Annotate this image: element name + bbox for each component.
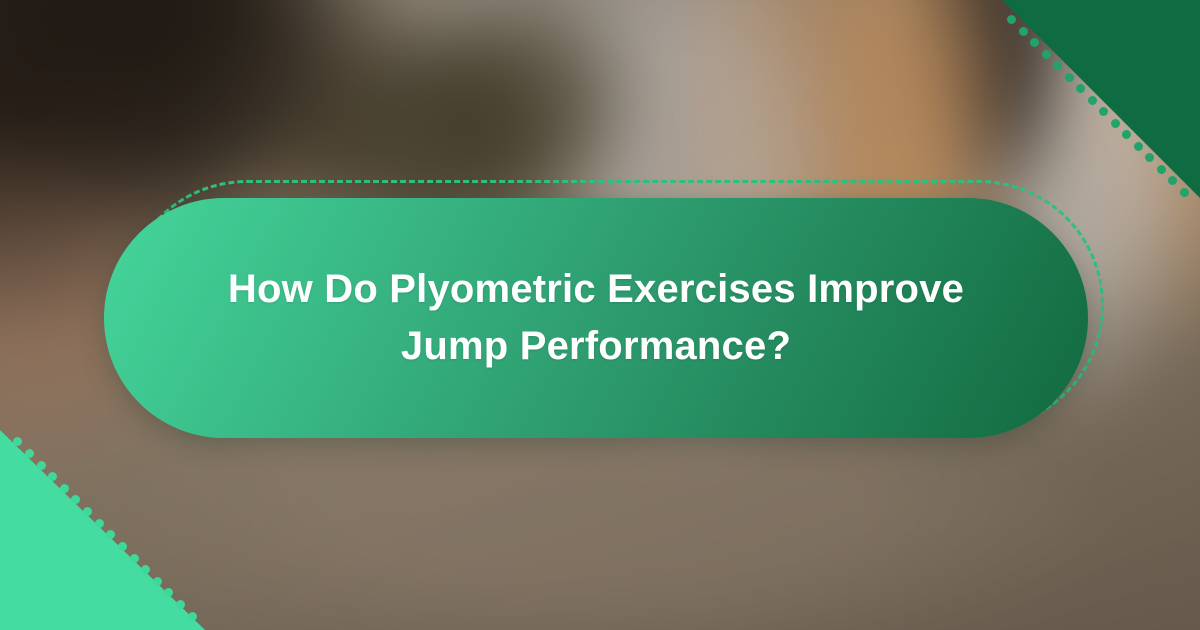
decorative-dot: [13, 437, 22, 446]
decorative-dot: [71, 495, 80, 504]
decorative-dot: [60, 484, 69, 493]
decorative-dot: [37, 461, 46, 470]
decorative-dot: [48, 472, 57, 481]
decorative-dot: [83, 507, 92, 516]
og-image-card: How Do Plyometric Exercises Improve Jump…: [0, 0, 1200, 630]
page-title: How Do Plyometric Exercises Improve Jump…: [211, 261, 981, 375]
decorative-dot: [164, 588, 173, 597]
decorative-dot: [188, 612, 197, 621]
decorative-dot: [176, 600, 185, 609]
headline-card: How Do Plyometric Exercises Improve Jump…: [104, 198, 1088, 438]
decorative-dot: [141, 565, 150, 574]
decorative-dot: [25, 449, 34, 458]
decorative-dot: [95, 519, 104, 528]
decorative-dot: [106, 530, 115, 539]
decorative-dot: [153, 577, 162, 586]
decorative-dot: [130, 554, 139, 563]
decorative-dot: [118, 542, 127, 551]
